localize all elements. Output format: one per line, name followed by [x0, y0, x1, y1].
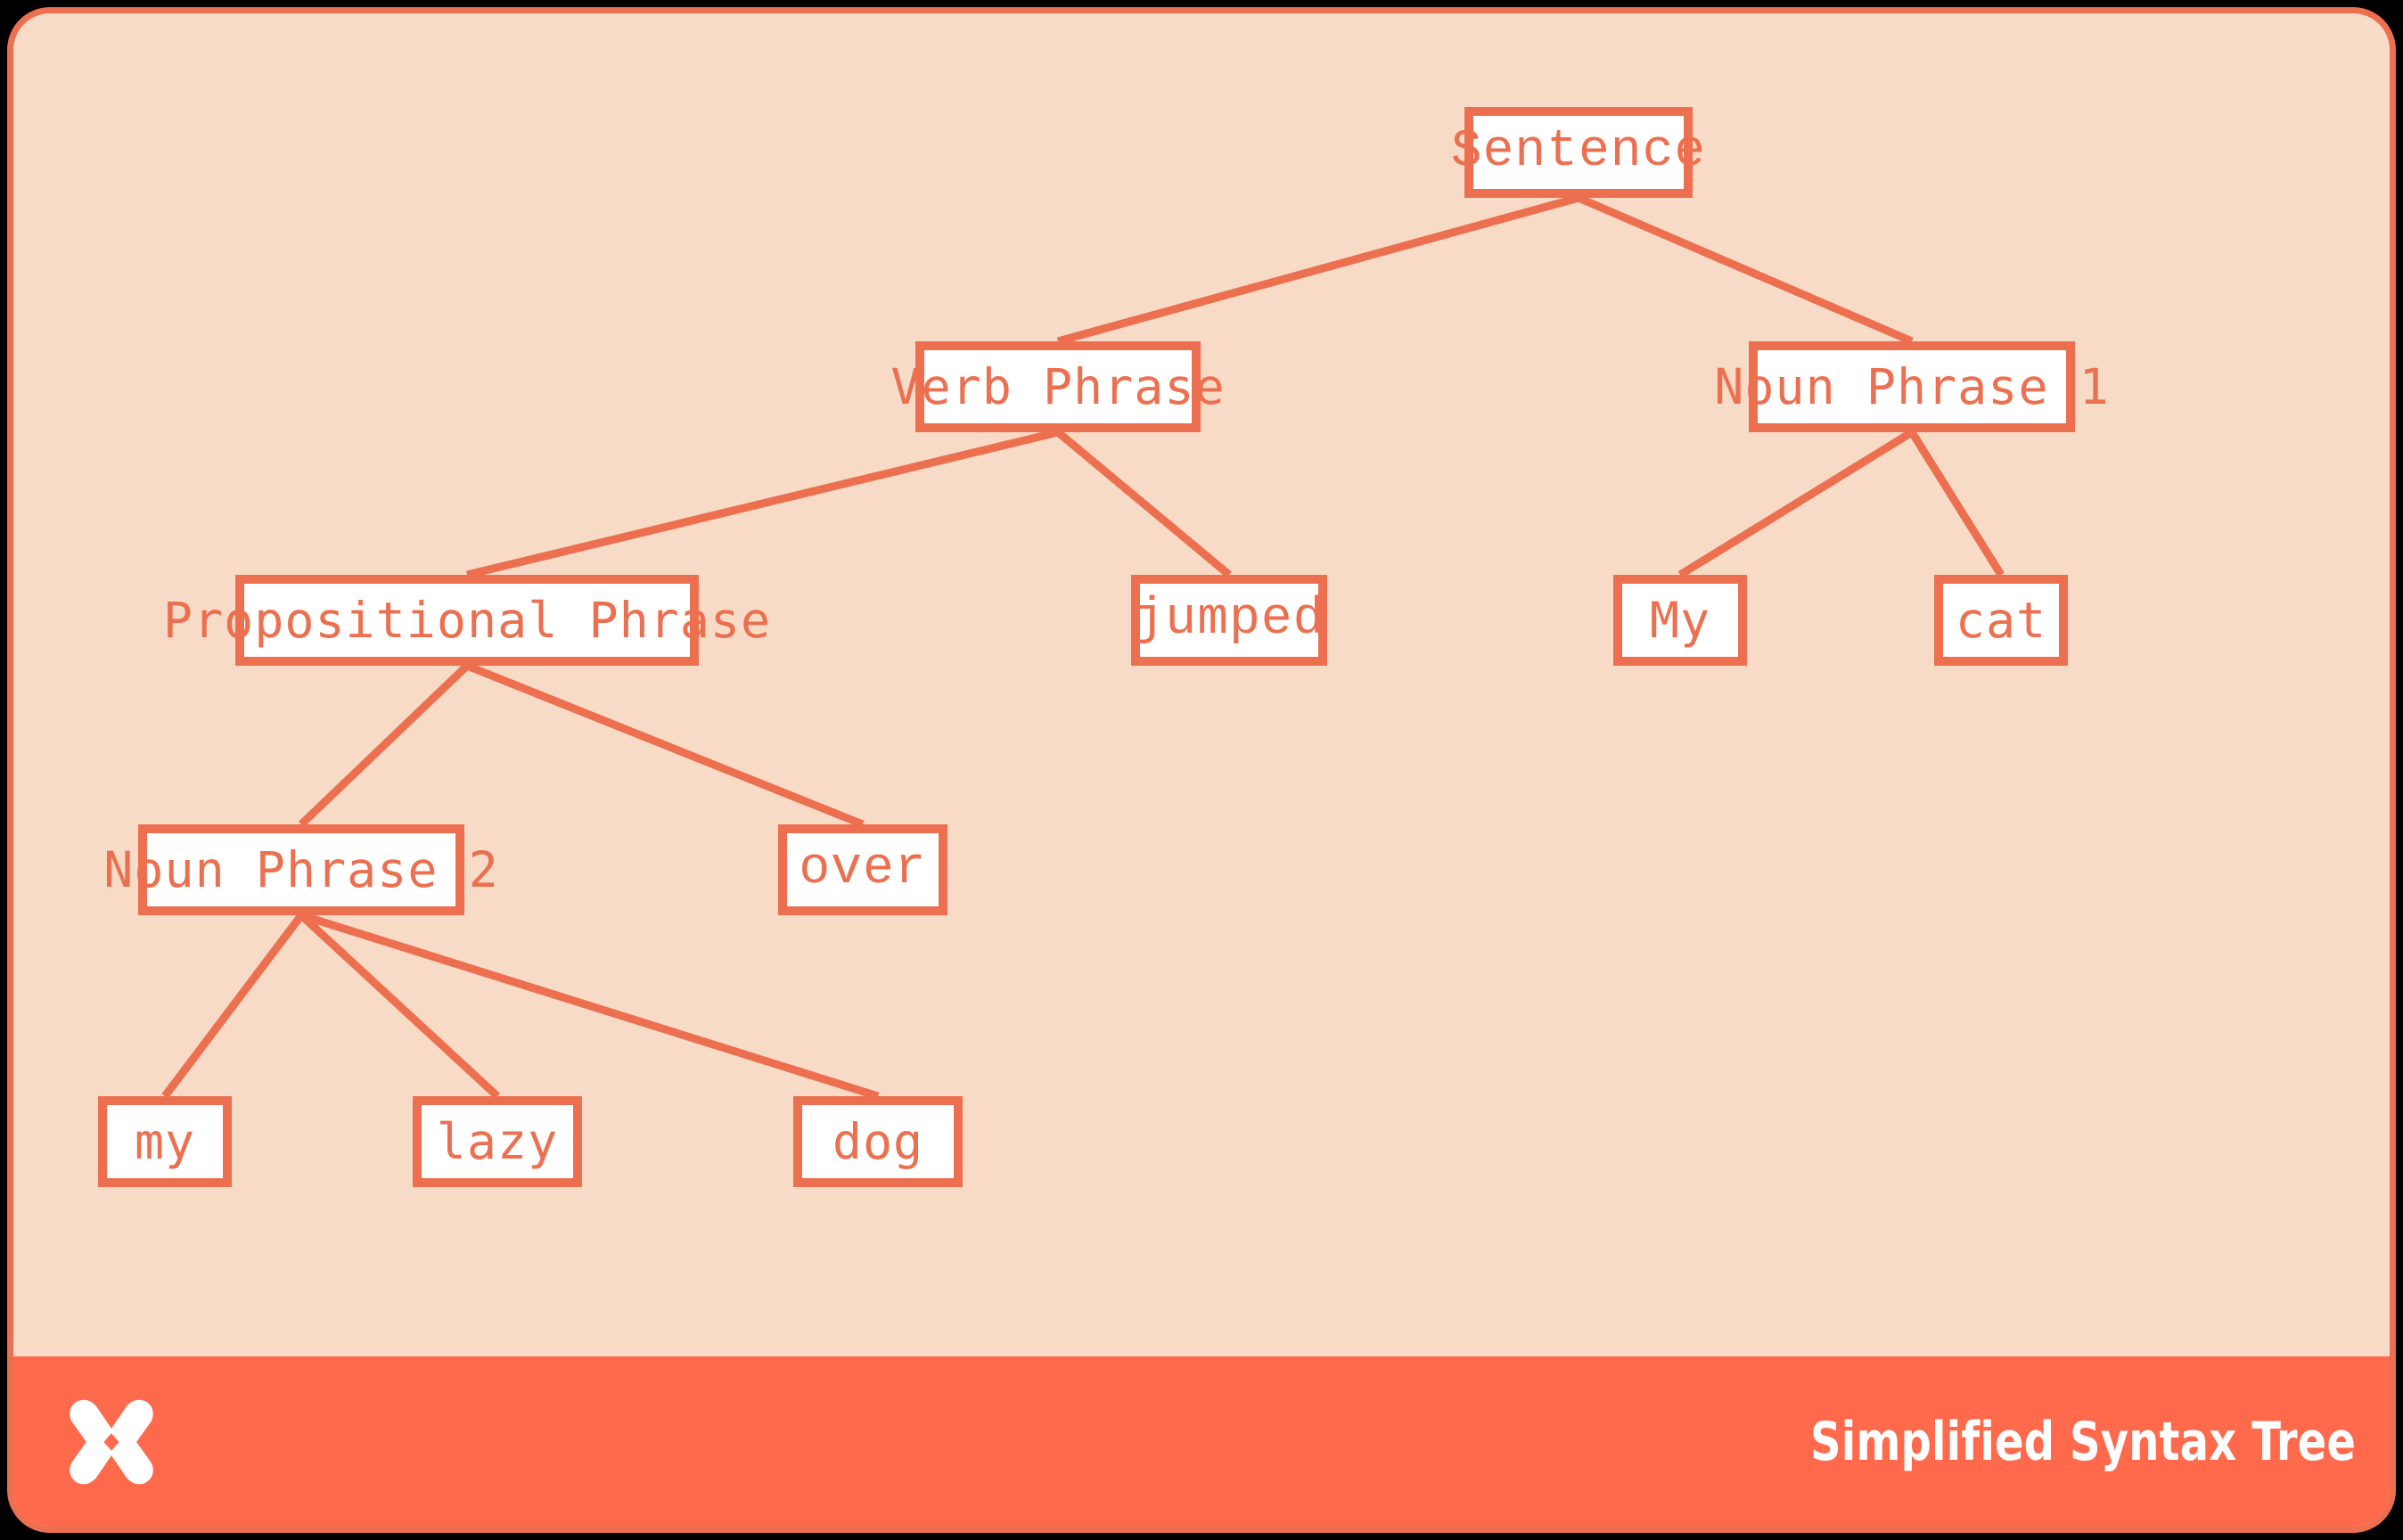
tree-node-jumped[interactable]: jumped [1131, 575, 1327, 666]
tree-node-np1[interactable]: Noun Phrase 1 [1749, 341, 2075, 432]
tree-node-label: over [799, 844, 926, 896]
tree-node-sentence[interactable]: Sentence [1464, 107, 1693, 198]
tree-edge-vp-to-pp [467, 432, 1058, 575]
tree-node-label: cat [1956, 596, 2046, 645]
tree-edge-np2-to-lazy [301, 915, 497, 1096]
tree-node-my_cap[interactable]: My [1613, 575, 1747, 666]
diagram-card: SentenceVerb PhraseNoun Phrase 1Proposit… [7, 7, 2396, 1533]
tree-node-label: Verb Phrase [890, 363, 1225, 412]
tree-edge-np2-to-my_low [165, 915, 301, 1096]
tree-node-label: jumped [1134, 594, 1325, 646]
tree-node-cat[interactable]: cat [1934, 575, 2068, 666]
tree-edge-np1-to-my_cap [1680, 432, 1912, 575]
tree-edge-np2-to-dog [301, 915, 878, 1096]
tree-node-np2[interactable]: Noun Phrase 2 [138, 824, 464, 915]
tree-node-label: Propositional Phrase [163, 596, 771, 645]
tree-edge-np1-to-cat [1912, 432, 2001, 575]
tree-edges-layer [13, 13, 2396, 1533]
tree-node-label: dog [832, 1118, 923, 1167]
tree-node-label: My [1650, 596, 1710, 645]
screenshot-stage: SentenceVerb PhraseNoun Phrase 1Proposit… [0, 0, 2403, 1540]
tree-edge-pp-to-np2 [301, 666, 467, 824]
tree-node-pp[interactable]: Propositional Phrase [235, 575, 699, 666]
tree-node-label: Noun Phrase 2 [103, 846, 498, 895]
tree-edge-vp-to-jumped [1058, 432, 1229, 575]
tree-node-label: Sentence [1451, 127, 1706, 178]
tree-node-label: lazy [437, 1118, 558, 1167]
x-star-logo-icon [63, 1394, 160, 1490]
tree-edge-sentence-to-np1 [1579, 198, 1912, 341]
tree-edge-sentence-to-vp [1058, 198, 1579, 341]
footer-banner: Simplified Syntax Tree [13, 1356, 2396, 1527]
tree-node-label: my [135, 1118, 195, 1167]
tree-node-lazy[interactable]: lazy [413, 1096, 582, 1187]
tree-edge-pp-to-over [467, 666, 863, 824]
tree-node-my_low[interactable]: my [98, 1096, 232, 1187]
tree-node-vp[interactable]: Verb Phrase [915, 341, 1201, 432]
tree-node-label: Noun Phrase 1 [1714, 363, 2109, 412]
syntax-tree-canvas: SentenceVerb PhraseNoun Phrase 1Proposit… [13, 13, 2396, 1533]
tree-node-dog[interactable]: dog [793, 1096, 963, 1187]
tree-node-over[interactable]: over [778, 824, 947, 915]
banner-title: Simplified Syntax Tree [1810, 1411, 2356, 1473]
